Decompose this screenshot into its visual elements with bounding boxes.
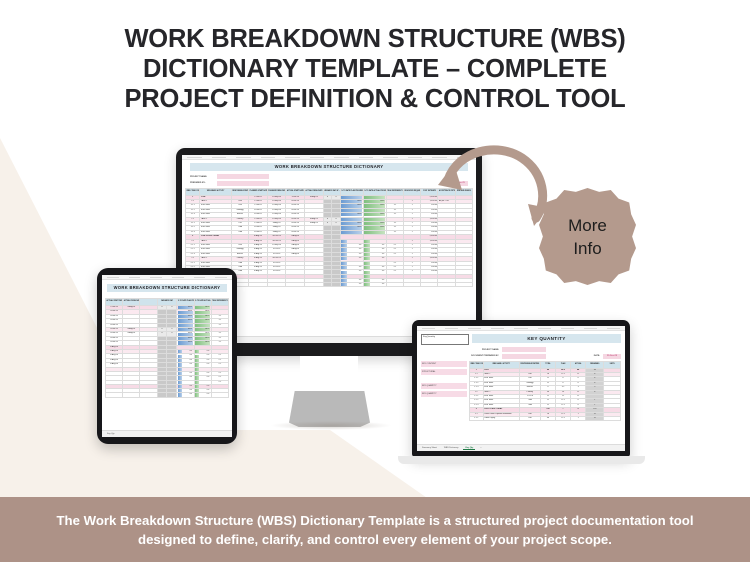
monitor-shadow xyxy=(270,421,392,430)
cell-total: 48 xyxy=(540,416,555,420)
page-title: WORK BREAKDOWN STRUCTURE (WBS) DICTIONAR… xyxy=(0,24,750,114)
cell-actual-progress: 100% xyxy=(194,323,211,327)
cell-plan-progress: 0% xyxy=(340,243,363,247)
cell-actual-progress: 100% xyxy=(363,195,386,199)
sheet-tab[interactable]: Key Qty xyxy=(105,433,116,435)
wbs-table-head: WBS / TASK CODE WBS NAME / ACTIVITY RESP… xyxy=(186,188,473,195)
cell-actual: 1 xyxy=(571,416,586,420)
sheet-tab[interactable]: Key Qty xyxy=(463,447,475,450)
col-variance: VARIANCE DAY SP - AF xyxy=(323,188,340,195)
tablet-col-blank xyxy=(140,299,157,306)
cell-plan-progress: 100% xyxy=(177,314,194,318)
cell-actual-progress: 100% xyxy=(194,336,211,340)
cell-actual-progress: 100% xyxy=(194,328,211,332)
cell-actual-progress: 0% xyxy=(194,371,211,375)
cell-plan-progress: 0% xyxy=(177,380,194,384)
cell-plan: 12.1 xyxy=(556,416,571,420)
cell-actual-progress: 0% xyxy=(194,376,211,380)
monitor-stand-neck xyxy=(300,356,358,396)
cell-planned-start xyxy=(249,283,268,287)
cell-plan-progress: 0% xyxy=(177,385,194,389)
cell-actual-start xyxy=(106,393,123,397)
laptop-sidebar-item[interactable]: STRUCTURAL xyxy=(421,369,467,375)
project-name-label: PROJECT NAME: xyxy=(190,176,214,178)
cell-actual-progress: 0% xyxy=(363,270,386,274)
page-title-line-2: DICTIONARY TEMPLATE – COMPLETE xyxy=(0,54,750,84)
cell-plan-progress: 0% xyxy=(340,257,363,261)
wbs-table-header-row: WBS / TASK CODE WBS NAME / ACTIVITY RESP… xyxy=(186,188,473,195)
cell-plan-progress: 100% xyxy=(340,213,363,217)
col-actual-start: ACTUAL START DATE xyxy=(286,188,305,195)
laptop-date-value[interactable]: 25-Dec-23 xyxy=(603,354,621,359)
cell-actual-progress: 0% xyxy=(363,248,386,252)
cell-actual-finish xyxy=(305,283,324,287)
cell-acceptance xyxy=(438,283,455,287)
cell-actual-progress: 100% xyxy=(194,306,211,310)
cell-actual-finish xyxy=(123,393,140,397)
footer-description-text: The Work Breakdown Structure (WBS) Dicti… xyxy=(42,511,708,549)
kq-col-name: WBS NAME / ACTIVITY xyxy=(483,361,519,368)
cell-plan-progress: 0% xyxy=(340,239,363,243)
cell-plan-progress: 100% xyxy=(340,199,363,203)
tablet-mockup: WORK BREAKDOWN STRUCTURE DICTIONARY ACTU… xyxy=(97,268,237,444)
laptop-screen: KeyQuantity KEY QUANTITY PROJECT NAME: D… xyxy=(417,326,625,451)
col-actual-finish: ACTUAL FINISH DATE xyxy=(305,188,324,195)
col-planned-finish: PLANNED FINISH DATE xyxy=(267,188,286,195)
cell-actual-progress: 100% xyxy=(194,319,211,323)
cell-plan-progress: 100% xyxy=(340,217,363,221)
cell-actual-progress: 0% xyxy=(363,243,386,247)
cell-risk xyxy=(455,283,472,287)
cell-plan-progress: 100% xyxy=(340,226,363,230)
kq-col-code: WBS / TASK CODE xyxy=(470,361,484,368)
cell-actual-progress: 100% xyxy=(194,310,211,314)
cell-actual-progress: 100% xyxy=(363,221,386,225)
cell-actual-progress: 0% xyxy=(363,283,386,287)
tablet-col-variance: VARIANCE DAY xyxy=(157,299,177,306)
cell-plan-progress: 0% xyxy=(340,283,363,287)
cell-actual-progress: 0% xyxy=(363,274,386,278)
cell-actual-progress: 100% xyxy=(194,332,211,336)
sheet-title: WORK BREAKDOWN STRUCTURE DICTIONARY xyxy=(190,163,468,171)
key-quantity-header-row: WBS / TASK CODE WBS NAME / ACTIVITY RESP… xyxy=(470,361,621,368)
cell-actual-progress: 100% xyxy=(363,226,386,230)
prepared-by-label: PREPARED BY: xyxy=(190,182,214,184)
kq-col-units: UNITS xyxy=(604,361,621,368)
kq-col-party: RESPONSIBLE PARTIES xyxy=(519,361,540,368)
col-plan-progress: % TO DATE PLAN PROGRESS xyxy=(340,188,363,195)
cell-variance-a xyxy=(323,283,332,287)
cell-actual-progress: 0% xyxy=(194,367,211,371)
laptop-mockup: KeyQuantity KEY QUANTITY PROJECT NAME: D… xyxy=(412,320,630,457)
cell-plan-progress: 0% xyxy=(177,376,194,380)
cell-actual-progress: 0% xyxy=(194,385,211,389)
cell-plan-progress: 100% xyxy=(340,195,363,199)
cell-actual-progress: 100% xyxy=(363,199,386,203)
cell-actual-progress: 0% xyxy=(363,239,386,243)
cell-cost xyxy=(421,283,438,287)
cell-variance-b xyxy=(332,283,341,287)
cell-actual-progress: 0% xyxy=(194,389,211,393)
cell-actual-progress: 0% xyxy=(194,358,211,362)
cell-plan-progress: 100% xyxy=(340,230,363,234)
cell-units xyxy=(604,416,621,420)
cell-plan-progress: 100% xyxy=(177,328,194,332)
col-wbs-code: WBS / TASK CODE xyxy=(186,188,200,195)
laptop-project-name-label: PROJECT NAME: xyxy=(471,349,499,351)
cell-actual-progress: 0% xyxy=(194,363,211,367)
footer-description-band: The Work Breakdown Structure (WBS) Dicti… xyxy=(0,497,750,562)
cell-actual-progress: 100% xyxy=(194,341,211,345)
key-quantity-head: WBS / TASK CODE WBS NAME / ACTIVITY RESP… xyxy=(470,361,621,368)
laptop-project-name-input[interactable] xyxy=(502,347,546,352)
col-responsible: RESPONSIBLE PARTIES xyxy=(231,188,248,195)
sheet-tab[interactable]: + xyxy=(478,447,483,449)
tablet-table-head: ACTUAL START DATE ACTUAL FINISH DATE VAR… xyxy=(106,299,229,306)
cell-actual-progress: 100% xyxy=(363,213,386,217)
more-info-badge-line-1: More xyxy=(568,214,607,237)
tablet-col-dependency: TASK DEPENDENT ON xyxy=(211,299,228,306)
sheet-tab[interactable]: WBS Dictionary xyxy=(442,447,461,449)
kq-col-plan: PLAN xyxy=(556,361,571,368)
cell-plan-progress: 100% xyxy=(177,336,194,340)
cell-plan-progress: 100% xyxy=(177,341,194,345)
key-quantity-table: WBS / TASK CODE WBS NAME / ACTIVITY RESP… xyxy=(469,361,621,422)
cell-plan-progress: 100% xyxy=(340,204,363,208)
table-row[interactable]: 0%0% xyxy=(106,393,229,397)
cell-plan-progress: 0% xyxy=(340,279,363,283)
laptop-sheet-title: KEY QUANTITY xyxy=(472,334,621,343)
cell-variance-b xyxy=(167,393,177,397)
cell-plan-progress: 100% xyxy=(177,310,194,314)
cell-plan-progress: 100% xyxy=(177,332,194,336)
key-quantity-body: 1CIVIL8848.044381.1TASK 1Civil1812.11261… xyxy=(470,368,621,421)
laptop-project-name-row: PROJECT NAME: xyxy=(471,347,621,352)
cell-dependency xyxy=(211,393,228,397)
laptop-sidebar: KEY CONTENTSTRUCTURALKEY QUANTITYKEY QUA… xyxy=(421,361,467,422)
cell-actual-progress: 0% xyxy=(363,257,386,261)
laptop-sidebar-item[interactable]: KEY CONTENT xyxy=(421,361,467,367)
laptop-logo: KeyQuantity xyxy=(421,334,469,345)
cell-plan-progress: 0% xyxy=(177,363,194,367)
cell-variance-a xyxy=(157,393,167,397)
cell-actual-progress: 100% xyxy=(363,204,386,208)
cell-actual-progress: 100% xyxy=(363,217,386,221)
cell-remaining: 12 xyxy=(586,416,604,420)
sheet-tab[interactable]: Summary Sheet xyxy=(420,447,439,449)
cell-actual-progress: 100% xyxy=(194,314,211,318)
cell-plan-progress: 100% xyxy=(177,319,194,323)
page-title-line-1: WORK BREAKDOWN STRUCTURE (WBS) xyxy=(0,24,750,54)
cell-plan-progress: 100% xyxy=(340,221,363,225)
more-info-badge[interactable]: More Info xyxy=(539,188,636,285)
tablet-sheet-title: WORK BREAKDOWN STRUCTURE DICTIONARY xyxy=(107,284,227,292)
cell-wbs-code: 2.1.1 xyxy=(470,416,484,420)
kq-col-remaining: REMAINING xyxy=(586,361,604,368)
cell-plan-progress: 0% xyxy=(340,270,363,274)
cell-actual-progress: 0% xyxy=(194,350,211,354)
cell-plan-progress: 0% xyxy=(177,350,194,354)
cell-planned-finish xyxy=(267,283,286,287)
cell-plan-progress: 100% xyxy=(340,208,363,212)
tablet-col-actual-finish: ACTUAL FINISH DATE xyxy=(123,299,140,306)
more-info-badge-line-2: Info xyxy=(573,237,601,260)
col-planned-start: PLANNED START DATE xyxy=(249,188,268,195)
cell-plan-progress: 0% xyxy=(340,248,363,252)
kq-col-total: TOTAL xyxy=(540,361,555,368)
cell-actual-start xyxy=(286,283,305,287)
cell-resource xyxy=(404,283,421,287)
cell-actual-progress: 0% xyxy=(363,279,386,283)
laptop-prepared-by-input[interactable] xyxy=(502,354,546,359)
page-title-line-3: PROJECT DEFINITION & CONTROL TOOL xyxy=(0,84,750,114)
col-dependency: TASK DEPENDENT ON xyxy=(386,188,403,195)
cell-actual-progress: 0% xyxy=(194,393,211,397)
cell-plan-progress: 0% xyxy=(177,371,194,375)
laptop-sidebar-item[interactable]: KEY QUANTITY xyxy=(421,383,467,389)
curved-arrow-icon xyxy=(432,138,562,228)
cell-plan-progress: 100% xyxy=(177,323,194,327)
tablet-col-plan-progress: % TO DATE PLAN PROGRESS xyxy=(177,299,194,306)
key-quantity-spreadsheet: KeyQuantity KEY QUANTITY PROJECT NAME: D… xyxy=(417,326,625,451)
laptop-date-label: DATE: xyxy=(594,355,600,357)
cell-plan-progress: 100% xyxy=(177,306,194,310)
project-name-field-row: PROJECT NAME: xyxy=(190,174,468,179)
cell-dependency xyxy=(386,283,403,287)
cell-plan-progress: 0% xyxy=(340,266,363,270)
cell-actual-progress: 0% xyxy=(363,261,386,265)
cell-plan-progress: 0% xyxy=(177,389,194,393)
cell-plan-progress: 0% xyxy=(340,274,363,278)
laptop-sheet-tab-bar[interactable]: Summary SheetWBS DictionaryKey Qty+ xyxy=(417,444,625,451)
cell-actual-progress: 0% xyxy=(194,354,211,358)
cell-wbs-name: Cable Laying xyxy=(483,416,519,420)
cell-plan-progress: 0% xyxy=(177,367,194,371)
kq-col-actual: ACTUAL xyxy=(571,361,586,368)
laptop-sidebar-item[interactable]: KEY QUANTITY xyxy=(421,391,467,397)
tablet-column-bar xyxy=(102,275,232,280)
tablet-spreadsheet: WORK BREAKDOWN STRUCTURE DICTIONARY ACTU… xyxy=(102,275,232,437)
col-resource: RESOURCE REQUIRED xyxy=(404,188,421,195)
cell-actual-progress: 100% xyxy=(363,230,386,234)
cell-plan-progress: 0% xyxy=(340,252,363,256)
cell-actual-progress: 0% xyxy=(363,266,386,270)
tablet-sheet-tab-bar[interactable]: Key Qty xyxy=(102,430,232,437)
table-row[interactable]: 2.1.1Cable LayingCivil4812.1112 xyxy=(470,416,621,420)
project-name-input[interactable] xyxy=(217,174,269,179)
tablet-table: ACTUAL START DATE ACTUAL FINISH DATE VAR… xyxy=(105,298,229,398)
tablet-screen: WORK BREAKDOWN STRUCTURE DICTIONARY ACTU… xyxy=(102,275,232,437)
laptop-base xyxy=(398,456,645,464)
cell-plan-progress: 0% xyxy=(340,261,363,265)
cell-plan-progress: 0% xyxy=(177,393,194,397)
col-wbs-name: WBS NAME / ACTIVITY xyxy=(200,188,232,195)
cell-blank xyxy=(140,393,157,397)
tablet-col-actual-progress: % TO DATE ACTUAL PROGRESS xyxy=(194,299,211,306)
col-actual-progress: % TO DATE ACTUAL PROGRESS xyxy=(363,188,386,195)
cell-plan-progress: 0% xyxy=(177,354,194,358)
tablet-col-actual-start: ACTUAL START DATE xyxy=(106,299,123,306)
cell-responsible: Civil xyxy=(519,416,540,420)
tablet-table-body: 1-Jun-244-Aug-2400100%100%8-Jun-24100%10… xyxy=(106,306,229,398)
cell-actual-progress: 100% xyxy=(363,208,386,212)
cell-actual-progress: 0% xyxy=(194,380,211,384)
prepared-by-input[interactable] xyxy=(217,181,269,186)
laptop-prepared-by-label: DOCUMENT PREPARED BY: xyxy=(471,355,499,357)
cell-plan-progress: 0% xyxy=(177,358,194,362)
tablet-header-row: ACTUAL START DATE ACTUAL FINISH DATE VAR… xyxy=(106,299,229,306)
cell-actual-progress: 0% xyxy=(363,252,386,256)
